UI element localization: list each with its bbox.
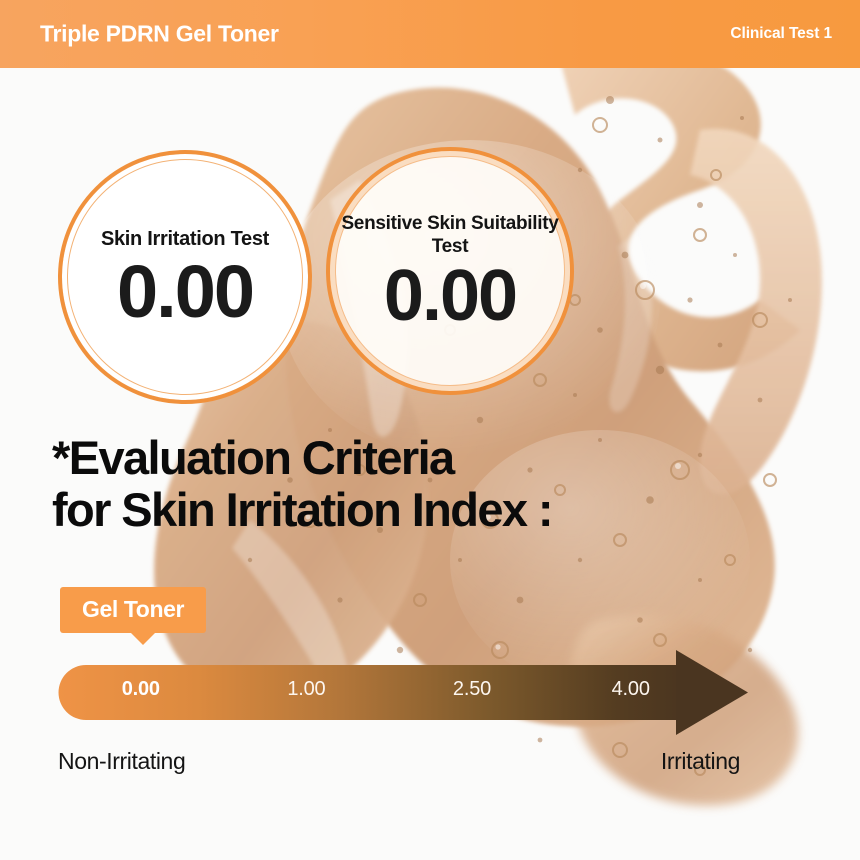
stat-value: 0.00 bbox=[384, 262, 516, 330]
stat-label: Skin Irritation Test bbox=[101, 227, 269, 251]
page-title: Triple PDRN Gel Toner bbox=[40, 21, 279, 48]
stat-circle-skin-irritation: Skin Irritation Test 0.00 bbox=[58, 150, 312, 404]
scale-tick-0: 0.00 bbox=[122, 678, 160, 701]
scale-caption-right: Irritating bbox=[661, 748, 740, 775]
scale-tick-1: 1.00 bbox=[287, 678, 325, 701]
scale-tick-3: 4.00 bbox=[612, 678, 650, 701]
scale-tick-labels: 0.00 1.00 2.50 4.00 bbox=[58, 648, 748, 740]
stat-value: 0.00 bbox=[117, 257, 253, 327]
clinical-test-badge: Clinical Test 1 bbox=[730, 25, 832, 43]
section-heading: *Evaluation Criteria for Skin Irritation… bbox=[52, 432, 552, 535]
gel-toner-marker: Gel Toner bbox=[60, 587, 206, 633]
stat-label: Sensitive Skin Suitability Test bbox=[330, 212, 570, 258]
header-bar: Triple PDRN Gel Toner Clinical Test 1 bbox=[0, 0, 860, 68]
scale-caption-left: Non-Irritating bbox=[58, 748, 185, 775]
infographic-page: Triple PDRN Gel Toner Clinical Test 1 Sk… bbox=[0, 0, 860, 860]
gel-toner-badge-label: Gel Toner bbox=[60, 587, 206, 633]
scale-tick-2: 2.50 bbox=[453, 678, 491, 701]
stat-circle-sensitive-skin: Sensitive Skin Suitability Test 0.00 bbox=[326, 147, 574, 395]
badge-pointer-icon bbox=[130, 632, 156, 645]
irritation-index-scale: 0.00 1.00 2.50 4.00 bbox=[58, 648, 748, 740]
